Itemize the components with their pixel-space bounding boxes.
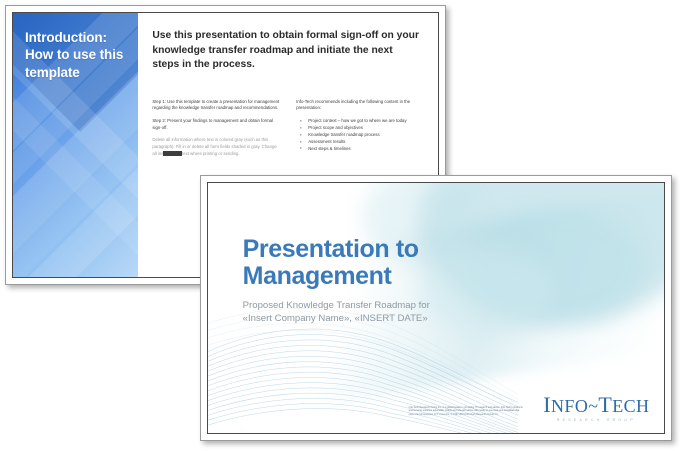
list-item: Project context – how we got to where we…: [303, 118, 426, 125]
slide2-text-block: Presentation to Management Proposed Know…: [243, 236, 430, 327]
slide1-step-1: Step 1: Use this template to create a pr…: [152, 99, 282, 112]
list-item: Assessment results: [303, 139, 426, 146]
list-item: Next steps & timelines: [303, 146, 426, 153]
slide1-bullet-list: Project context – how we got to where we…: [296, 118, 426, 153]
list-item: Knowledge transfer roadmap process: [303, 132, 426, 139]
slide2-title: Presentation to Management: [243, 236, 430, 290]
slide1-gray-note-part2: text where printing or sending.: [182, 151, 240, 156]
slide1-blue-sidebar: Introduction: How to use this template: [13, 13, 138, 277]
slide2-subtitle: Proposed Knowledge Transfer Roadmap for …: [243, 299, 430, 327]
info-tech-logo-tagline: RESEARCH GROUP: [543, 418, 649, 422]
logo-letter-t: T: [598, 392, 612, 417]
info-tech-logo: INFO~TECH RESEARCH GROUP: [543, 394, 649, 422]
logo-text-nfo: NFO: [551, 396, 588, 416]
slide-thumbnail-title[interactable]: Presentation to Management Proposed Know…: [200, 175, 672, 441]
slide2-title-line2: Management: [243, 262, 392, 290]
slide1-step-2: Step 2: Present your findings to managem…: [152, 118, 282, 131]
logo-letter-i: I: [543, 392, 551, 417]
slide2-title-line1: Presentation to: [243, 235, 419, 263]
slide1-sidebar-title: Introduction: How to use this template: [25, 29, 128, 81]
slide2-subtitle-line1: Proposed Knowledge Transfer Roadmap for: [243, 300, 430, 311]
slide1-two-column-body: Step 1: Use this template to create a pr…: [152, 99, 426, 164]
slide2-inner: Presentation to Management Proposed Know…: [207, 182, 665, 434]
slide1-lead-heading: Use this presentation to obtain formal s…: [152, 29, 420, 73]
slide1-gray-note-highlight: tances of: [163, 151, 182, 156]
list-item: Project scope and objectives: [303, 125, 426, 132]
logo-text-ech: ECH: [612, 396, 649, 416]
slide1-left-column: Step 1: Use this template to create a pr…: [152, 99, 282, 164]
logo-tilde: ~: [588, 396, 598, 416]
info-tech-logo-wordmark: INFO~TECH: [543, 394, 649, 416]
slide1-gray-note: Delete all information where text is col…: [152, 137, 282, 157]
slide1-right-intro: Info-Tech recommends including the follo…: [296, 99, 426, 112]
slide2-legal-fineprint: Info-Tech Research Group Inc. is a globa…: [409, 406, 525, 417]
slide1-right-column: Info-Tech recommends including the follo…: [296, 99, 426, 164]
slide2-background: Presentation to Management Proposed Know…: [208, 183, 664, 433]
slide2-subtitle-line2: «Insert Company Name», «INSERT DATE»: [243, 313, 428, 324]
screenshot-canvas: Introduction: How to use this template U…: [0, 0, 686, 451]
